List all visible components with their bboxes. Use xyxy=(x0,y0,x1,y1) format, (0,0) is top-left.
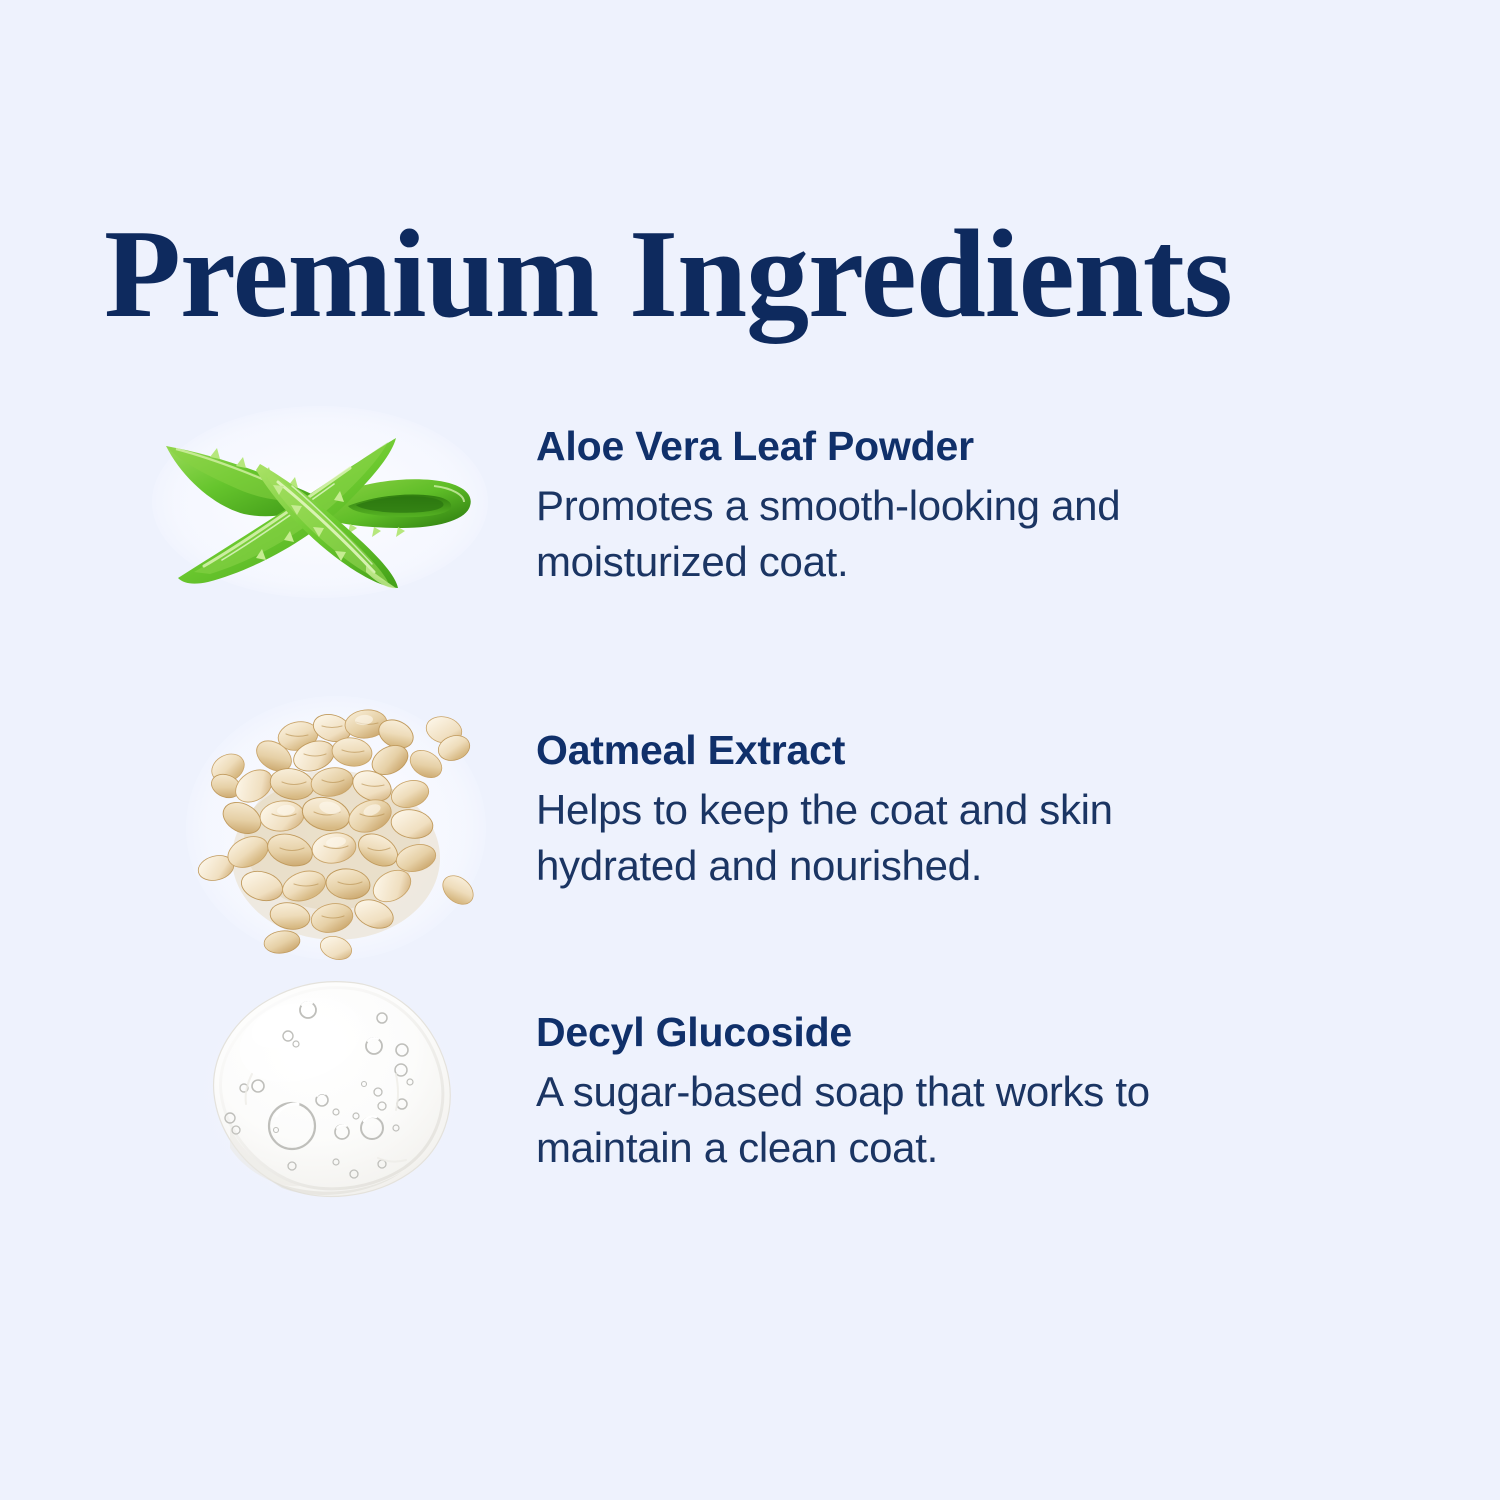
ingredient-description: A sugar-based soap that works to maintai… xyxy=(536,1064,1256,1176)
aloe-vera-leaves-icon xyxy=(152,402,482,592)
ingredient-name: Aloe Vera Leaf Powder xyxy=(536,420,1316,472)
page-title: Premium Ingredients xyxy=(104,212,1232,338)
ingredient-item-decyl-glucoside: Decyl Glucoside A sugar-based soap that … xyxy=(0,976,1500,1266)
ingredient-item-oatmeal: Oatmeal Extract Helps to keep the coat a… xyxy=(0,686,1500,976)
ingredient-text-aloe-vera: Aloe Vera Leaf Powder Promotes a smooth-… xyxy=(536,420,1316,590)
clear-gel-droplet-icon xyxy=(196,978,464,1208)
ingredient-item-aloe-vera: Aloe Vera Leaf Powder Promotes a smooth-… xyxy=(0,396,1500,686)
ingredient-description: Promotes a smooth-looking and moisturize… xyxy=(536,478,1256,590)
ingredient-text-decyl-glucoside: Decyl Glucoside A sugar-based soap that … xyxy=(536,1006,1316,1176)
ingredient-description: Helps to keep the coat and skin hydrated… xyxy=(536,782,1256,894)
ingredient-text-oatmeal: Oatmeal Extract Helps to keep the coat a… xyxy=(536,724,1316,894)
ingredient-name: Oatmeal Extract xyxy=(536,724,1316,776)
oat-flakes-icon xyxy=(186,690,486,960)
ingredients-page: Premium Ingredients xyxy=(0,0,1500,1500)
ingredient-name: Decyl Glucoside xyxy=(536,1006,1316,1058)
ingredient-list: Aloe Vera Leaf Powder Promotes a smooth-… xyxy=(0,396,1500,1266)
